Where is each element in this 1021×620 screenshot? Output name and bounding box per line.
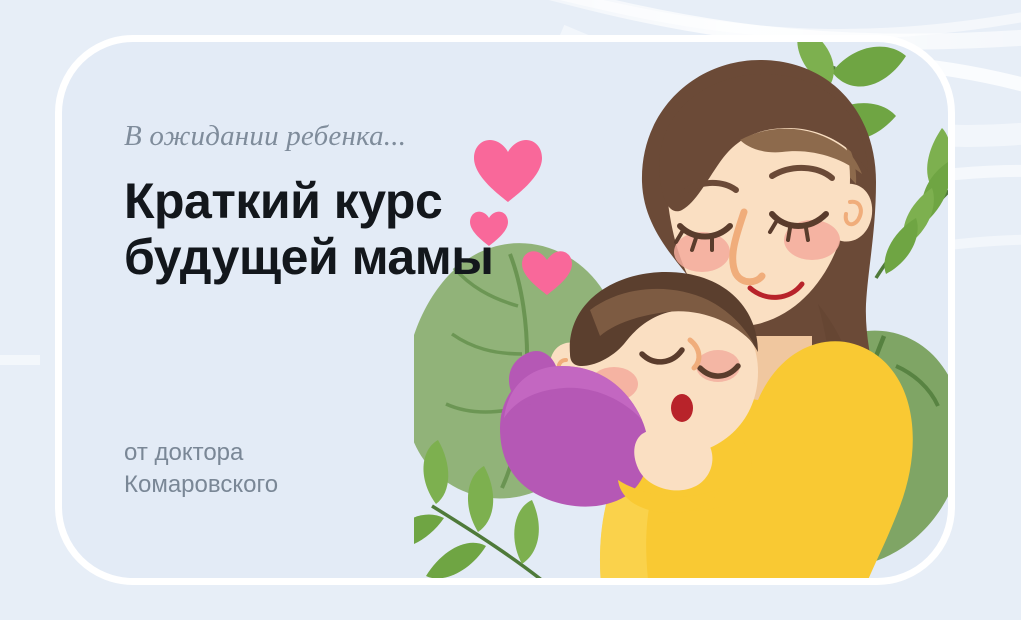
headline-line-2: будущей мамы <box>124 229 493 285</box>
headline-line-1: Краткий курс <box>124 173 442 229</box>
page-title: Краткий курс будущей мамы <box>124 173 544 285</box>
promo-card[interactable]: В ожидании ребенка... Краткий курс будущ… <box>55 35 955 585</box>
byline: от доктора Комаровского <box>124 437 278 502</box>
banner-stage: В ожидании ребенка... Краткий курс будущ… <box>0 0 1021 620</box>
promo-card-inner: В ожидании ребенка... Краткий курс будущ… <box>62 42 948 578</box>
eyebrow-text: В ожидании ребенка... <box>124 120 544 153</box>
byline-line-2: Комаровского <box>124 471 278 498</box>
byline-line-1: от доктора <box>124 439 243 466</box>
card-copy: В ожидании ребенка... Краткий курс будущ… <box>124 120 544 285</box>
leaf-branch-far-right <box>876 128 948 278</box>
